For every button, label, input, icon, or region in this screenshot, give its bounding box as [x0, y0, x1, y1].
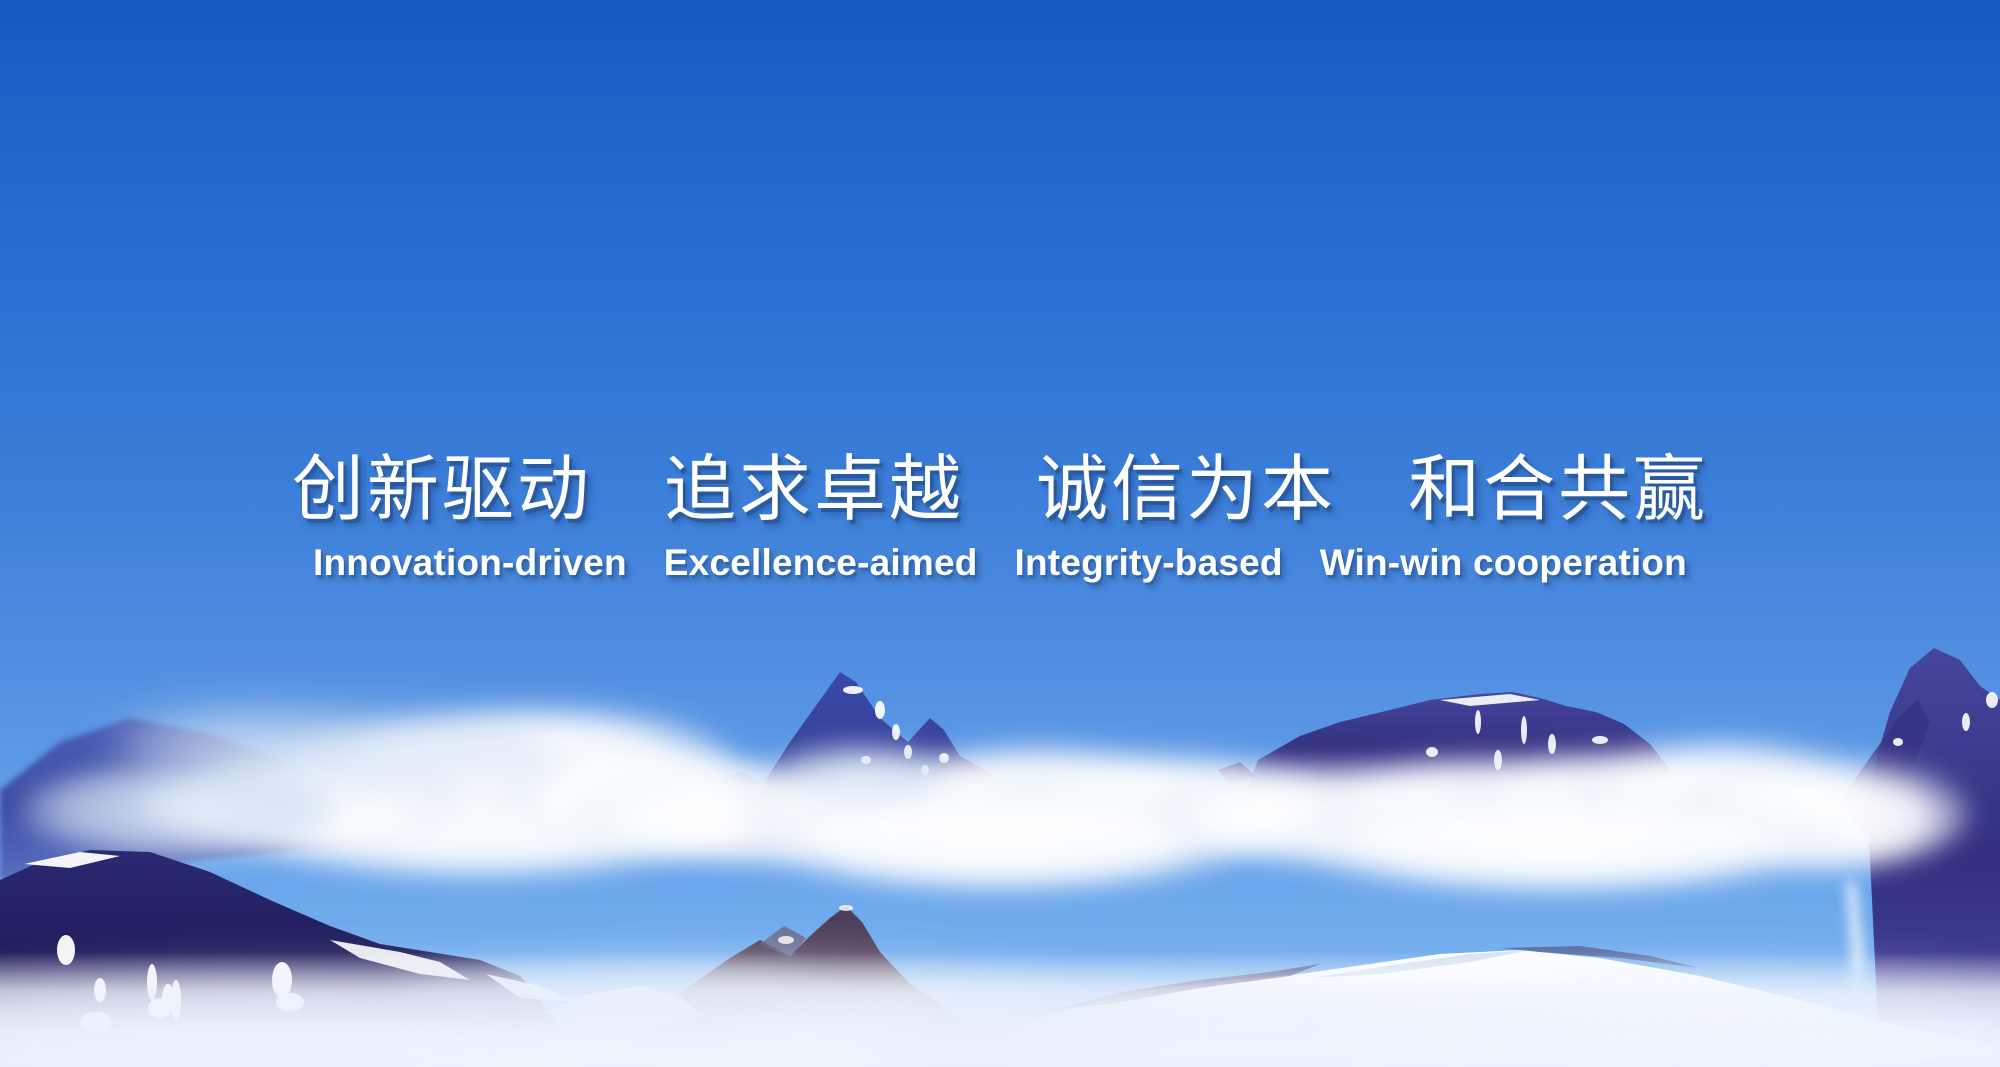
banner-stage: 创新驱动 追求卓越 诚信为本 和合共赢 Innovation-driven Ex…: [0, 0, 2000, 1067]
mountain-cloud-scenery: [0, 0, 2000, 1067]
